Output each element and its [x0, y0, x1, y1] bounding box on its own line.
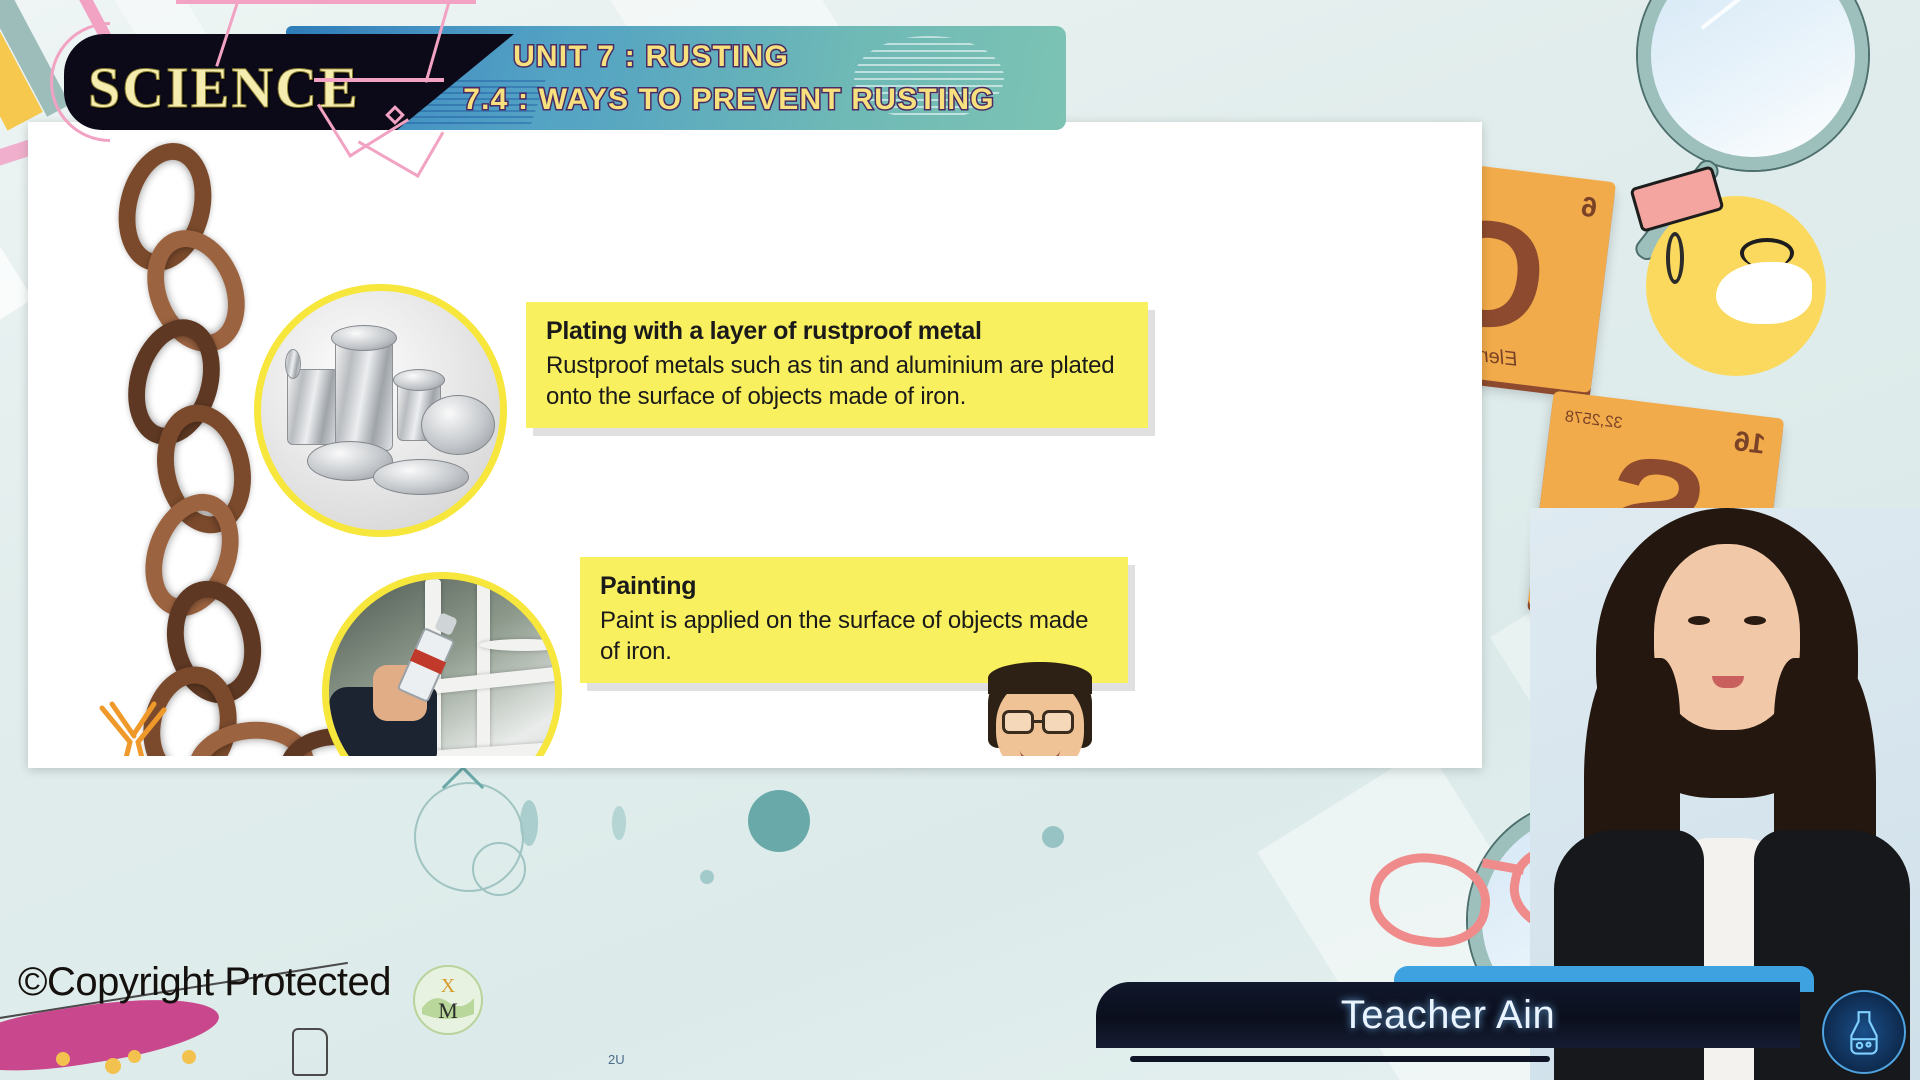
note-painting-title: Painting	[600, 571, 1110, 602]
note-plating-body: Rustproof metals such as tin and alumini…	[546, 350, 1130, 412]
element-mass: 32,2578	[1564, 408, 1624, 433]
lightbulb-coil	[1666, 232, 1684, 284]
lesson-slide[interactable]: Plating with a layer of rustproof metal …	[28, 122, 1482, 768]
element-number: 16	[1732, 425, 1767, 461]
paw-dot	[182, 1050, 196, 1064]
lightbulb-shine	[1716, 262, 1812, 324]
tin-cans-photo	[254, 284, 507, 537]
svg-text:M: M	[438, 998, 458, 1023]
bg-circle	[612, 806, 626, 840]
copyright-text: ©Copyright Protected	[18, 960, 391, 1005]
presenter-eye	[1744, 616, 1766, 625]
subject-label: SCIENCE	[88, 54, 360, 121]
small-watermark: 2U	[608, 1052, 625, 1067]
bg-circle	[700, 870, 714, 884]
cartoon-teacher	[962, 662, 1152, 756]
bg-outline-circle	[472, 842, 526, 896]
paw-dot	[105, 1058, 121, 1074]
note-plating: Plating with a layer of rustproof metal …	[526, 302, 1148, 428]
svg-text:X: X	[441, 975, 456, 997]
orange-flourish-icon	[94, 694, 172, 756]
note-plating-title: Plating with a layer of rustproof metal	[546, 316, 1130, 347]
pink-accent-line	[50, 22, 110, 142]
bg-circle	[748, 790, 810, 852]
paw-dot	[56, 1052, 70, 1066]
spray-painting-photo	[322, 572, 562, 756]
magnifier-decoration	[1638, 0, 1868, 170]
note-painting-body: Paint is applied on the surface of objec…	[600, 605, 1110, 667]
element-number: 6	[1579, 191, 1598, 225]
pink-accent-line	[176, 0, 476, 4]
nameplate: Teacher Ain	[1096, 982, 1800, 1048]
teacher-name: Teacher Ain	[1341, 993, 1556, 1038]
brand-logo	[1822, 990, 1906, 1074]
header: UNIT 7 : RUSTING 7.4 : WAYS TO PREVENT R…	[36, 26, 1066, 130]
slide-content: Plating with a layer of rustproof metal …	[32, 132, 1472, 756]
nameplate-underline	[1130, 1056, 1550, 1062]
presenter-eye	[1688, 616, 1710, 625]
tag-decoration	[292, 1028, 328, 1076]
creative-commons-logo: X M	[410, 962, 486, 1038]
paw-dot	[128, 1050, 141, 1063]
bg-circle	[1042, 826, 1064, 848]
